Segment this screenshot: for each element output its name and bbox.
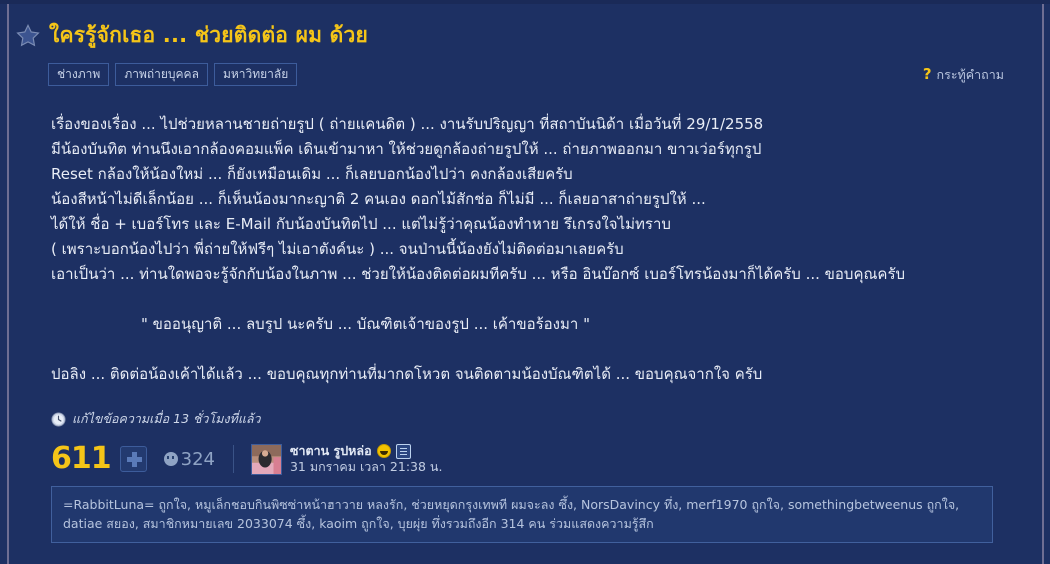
post-line: น้องสีหน้าไม่ดีเล็กน้อย ... ก็เห็นน้องมา… <box>51 187 1042 212</box>
poster-date: 31 มกราคม เวลา 21:38 น. <box>290 459 442 475</box>
poster-info: ซาตาน รูปหล่อ 31 มกราคม เวลา 21:38 น. <box>251 443 442 475</box>
post-spacer <box>51 287 1042 312</box>
post-body: เรื่องของเรื่อง ... ไปช่วยหลานชายถ่ายรูป… <box>9 86 1042 387</box>
post-line: ได้ให้ ชื่อ + เบอร์โทร และ E-Mail กับน้อ… <box>51 212 1042 237</box>
post-line: เอาเป็นว่า ... ท่านใดพอจะรู้จักกับน้องใน… <box>51 262 1042 287</box>
post-spacer <box>51 337 1042 362</box>
vote-bar-divider <box>233 445 234 473</box>
vote-count: 611 <box>51 444 111 474</box>
emoji-count-value: 324 <box>181 449 215 470</box>
star-icon[interactable] <box>15 23 41 49</box>
tag-chip-1[interactable]: ภาพถ่ายบุคคล <box>115 63 208 86</box>
post-line: เรื่องของเรื่อง ... ไปช่วยหลานชายถ่ายรูป… <box>51 112 1042 137</box>
tag-chip-0[interactable]: ช่างภาพ <box>48 63 109 86</box>
reactions-list: =RabbitLuna= ถูกใจ, หมูเล็กชอบกินพิซซ่าห… <box>51 486 993 543</box>
question-topic-flag: ? กระทู้คำถาม <box>923 65 1004 85</box>
question-topic-label: กระทู้คำถาม <box>937 65 1004 85</box>
post-closing-line: ปอลิง ... ติดต่อน้องเค้าได้แล้ว ... ขอบค… <box>51 362 1042 387</box>
reactions-line: =RabbitLuna= ถูกใจ, หมูเล็กชอบกินพิซซ่าห… <box>63 495 981 514</box>
poster-text-lines: ซาตาน รูปหล่อ 31 มกราคม เวลา 21:38 น. <box>290 443 442 475</box>
poster-name[interactable]: ซาตาน รูปหล่อ <box>290 443 372 459</box>
clock-icon <box>51 412 66 427</box>
topic-page: ใครรู้จักเธอ ... ช่วยติดต่อ ผม ด้วย ช่าง… <box>9 4 1042 564</box>
post-line: Reset กล้องให้น้องใหม่ ... ก็ยังเหมือนเด… <box>51 162 1042 187</box>
tags-row: ช่างภาพ ภาพถ่ายบุคคล มหาวิทยาลัย ? กระทู… <box>9 63 1042 86</box>
vote-plus-button[interactable] <box>120 446 147 472</box>
question-mark-icon: ? <box>923 67 932 82</box>
vote-bar: 611 324 ซาตาน รูปหล่อ 31 มกรา <box>9 443 1042 475</box>
avatar[interactable] <box>251 444 282 475</box>
post-line: มีน้องบันทิต ท่านนึงเอากล้องคอมแพ็ค เดิน… <box>51 137 1042 162</box>
edit-notice-text: แก้ไขข้อความเมื่อ 13 ชั่วโมงที่แล้ว <box>72 409 261 429</box>
emoji-reaction-count[interactable]: 324 <box>164 449 215 470</box>
edit-notice: แก้ไขข้อความเมื่อ 13 ชั่วโมงที่แล้ว <box>9 409 1042 429</box>
post-quote-line: " ขออนุญาติ ... ลบรูป นะครับ ... บัณฑิตเ… <box>51 312 1042 337</box>
smiley-icon <box>377 444 391 458</box>
tag-chip-2[interactable]: มหาวิทยาลัย <box>214 63 297 86</box>
post-line: ( เพราะบอกน้องไปว่า พี่ถ่ายให้ฟรีๆ ไม่เอ… <box>51 237 1042 262</box>
right-vertical-rule <box>1042 4 1044 564</box>
page-title: ใครรู้จักเธอ ... ช่วยติดต่อ ผม ด้วย <box>49 19 368 52</box>
emoticon-face-icon <box>164 452 178 466</box>
poster-name-row: ซาตาน รูปหล่อ <box>290 443 442 459</box>
reactions-line: datiae สยอง, สมาชิกหมายเลข 2033074 ซึ้ง,… <box>63 514 981 533</box>
document-badge-icon[interactable] <box>396 444 411 459</box>
topic-header: ใครรู้จักเธอ ... ช่วยติดต่อ ผม ด้วย <box>9 4 1042 52</box>
